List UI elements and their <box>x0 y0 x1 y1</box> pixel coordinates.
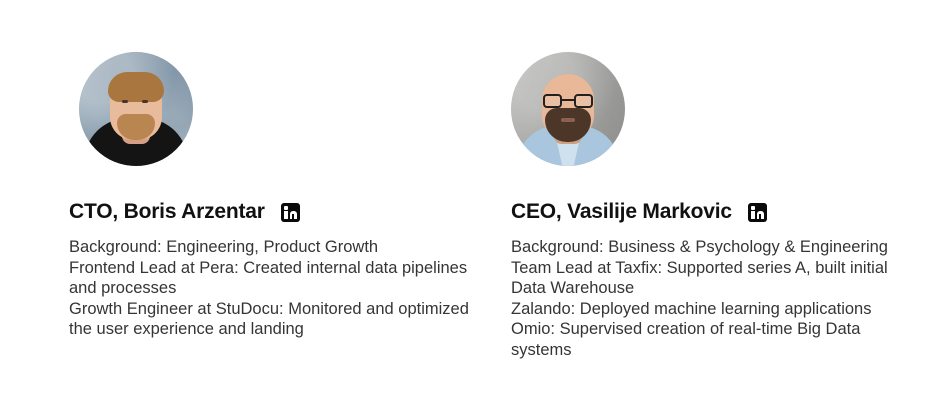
profile-name: CTO, Boris Arzentar <box>69 200 265 224</box>
linkedin-icon-stem <box>751 211 755 219</box>
linkedin-icon-dot <box>284 206 288 210</box>
avatar-vasilije-markovic <box>511 52 625 166</box>
avatar-eye-left <box>122 100 128 103</box>
glasses-bridge <box>562 99 574 101</box>
profile-card-cto: CTO, Boris Arzentar Background: Engineer… <box>69 0 469 340</box>
linkedin-icon[interactable] <box>748 203 767 222</box>
linkedin-icon[interactable] <box>281 203 300 222</box>
team-profiles-page: CTO, Boris Arzentar Background: Engineer… <box>0 0 948 412</box>
profile-name: CEO, Vasilije Markovic <box>511 200 732 224</box>
linkedin-icon-notch <box>759 214 761 219</box>
avatar-boris-arzentar <box>79 52 193 166</box>
profile-name-row: CTO, Boris Arzentar <box>69 200 469 224</box>
avatar-mouth <box>561 118 575 122</box>
profile-bio: Background: Engineering, Product Growth … <box>69 237 469 340</box>
glasses-icon <box>543 94 593 108</box>
glasses-lens-left <box>543 94 562 108</box>
avatar-hair <box>108 72 164 102</box>
linkedin-icon-notch <box>292 214 294 219</box>
avatar-eye-right <box>142 100 148 103</box>
glasses-lens-right <box>574 94 593 108</box>
linkedin-icon-dot <box>751 206 755 210</box>
profile-bio: Background: Business & Psychology & Engi… <box>511 237 911 360</box>
profile-card-ceo: CEO, Vasilije Markovic Background: Busin… <box>511 0 911 360</box>
linkedin-icon-stem <box>284 211 288 219</box>
profile-name-row: CEO, Vasilije Markovic <box>511 200 911 224</box>
